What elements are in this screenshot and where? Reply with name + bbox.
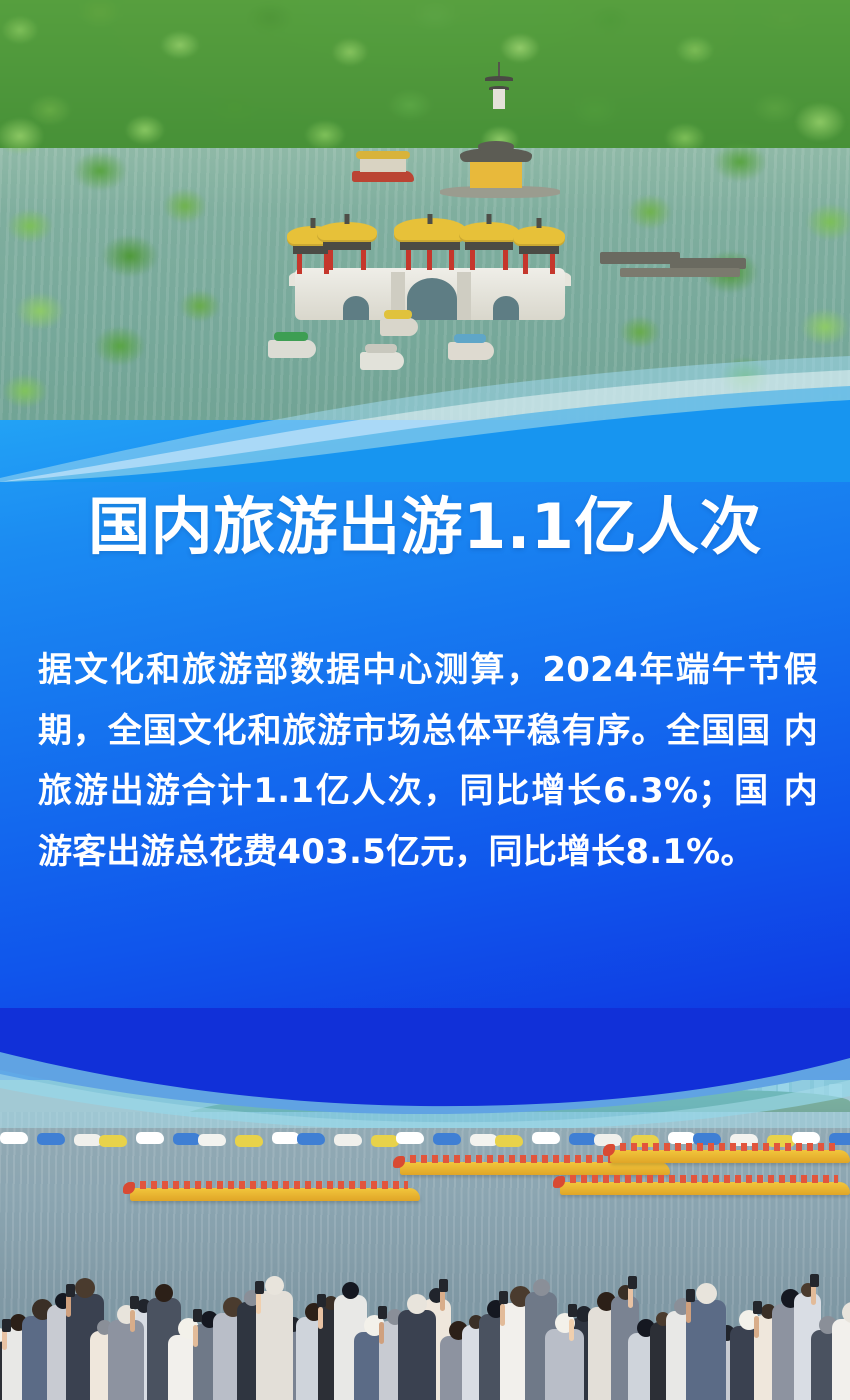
spectator-head <box>342 1282 359 1299</box>
distant-pagoda-icon <box>482 62 516 110</box>
tour-boat <box>380 318 418 336</box>
pedal-boat <box>297 1133 325 1145</box>
raised-phone <box>255 1281 264 1294</box>
pedal-boat <box>272 1132 300 1144</box>
spectator-head <box>533 1279 550 1296</box>
pedal-boat <box>470 1134 498 1146</box>
pedal-boat <box>173 1133 201 1145</box>
pedal-boat <box>198 1134 226 1146</box>
raised-phone <box>317 1294 326 1307</box>
spectator <box>256 1291 293 1400</box>
raised-phone <box>568 1304 577 1317</box>
spectator-head <box>696 1283 717 1304</box>
pedal-boat <box>37 1133 65 1145</box>
raised-phone <box>130 1296 139 1309</box>
raised-phone <box>66 1284 75 1297</box>
page-title: 国内旅游出游1.1亿人次 <box>0 492 850 561</box>
bridge-pavilion-center <box>400 208 460 270</box>
raised-arm <box>193 1325 198 1347</box>
pavilion-island <box>440 132 560 198</box>
waterside-village <box>600 238 790 298</box>
five-pavilion-bridge <box>295 198 565 320</box>
body-line: 期，全国文化和旅游市场总体平稳有序。全国国 <box>38 711 771 751</box>
tour-boat <box>448 342 494 360</box>
dragon-boat <box>610 1150 850 1163</box>
raised-arm <box>256 1292 261 1314</box>
tour-boat <box>360 352 404 370</box>
raised-arm <box>500 1304 505 1326</box>
spectator <box>686 1300 726 1400</box>
raised-phone <box>753 1301 762 1314</box>
raised-arm <box>686 1301 691 1323</box>
pedal-boat <box>495 1135 523 1147</box>
spectator-crowd <box>0 1278 850 1400</box>
spectator <box>108 1320 144 1400</box>
raised-arm <box>569 1319 574 1341</box>
raised-arm <box>440 1289 445 1311</box>
red-roof-boat <box>352 148 414 182</box>
dragon-boat <box>400 1162 670 1175</box>
spectator-head <box>155 1284 173 1302</box>
raised-phone <box>686 1289 695 1302</box>
body-paragraph: 据文化和旅游部数据中心测算，2024年端午节假 期，全国文化和旅游市场总体平稳有… <box>38 640 818 882</box>
raised-phone <box>193 1309 202 1322</box>
spectator <box>832 1319 850 1400</box>
raised-arm <box>130 1310 135 1332</box>
spectator <box>545 1329 584 1400</box>
raised-arm <box>628 1286 633 1308</box>
raised-phone <box>2 1319 11 1332</box>
raised-phone <box>378 1306 387 1319</box>
infographic-poster: 国内旅游出游1.1亿人次 据文化和旅游部数据中心测算，2024年端午节假 期，全… <box>0 0 850 1400</box>
raised-phone <box>499 1291 508 1304</box>
top-photo-slender-west-lake <box>0 0 850 452</box>
pedal-boat <box>235 1135 263 1147</box>
raised-arm <box>754 1316 759 1338</box>
bridge-pavilion-right <box>465 218 513 270</box>
raised-arm <box>318 1307 323 1329</box>
spectator-head <box>75 1278 95 1298</box>
pedal-boat <box>396 1132 424 1144</box>
pedal-boat <box>433 1133 461 1145</box>
pedal-boat <box>569 1133 597 1145</box>
bridge-pavilion-left <box>323 218 371 270</box>
raised-arm <box>66 1295 71 1317</box>
pedal-boat <box>371 1135 399 1147</box>
raised-phone <box>628 1276 637 1289</box>
raised-arm <box>379 1322 384 1344</box>
spectator-head <box>265 1276 284 1295</box>
pedal-boat <box>136 1132 164 1144</box>
pedal-boat <box>532 1132 560 1144</box>
dragon-boat <box>560 1182 850 1195</box>
pedal-boat <box>0 1132 28 1144</box>
left-bank-trees <box>0 96 300 426</box>
spectator <box>398 1310 436 1400</box>
body-line: 据文化和旅游部数据中心测算，2024年端午节假 <box>38 650 818 690</box>
tour-boat <box>268 340 316 358</box>
pedal-boat <box>334 1134 362 1146</box>
pedal-boat <box>99 1135 127 1147</box>
spectator-head <box>407 1294 427 1314</box>
raised-phone <box>810 1274 819 1287</box>
raised-phone <box>439 1279 448 1292</box>
pedal-boat <box>74 1134 102 1146</box>
dragon-boat <box>130 1188 420 1201</box>
